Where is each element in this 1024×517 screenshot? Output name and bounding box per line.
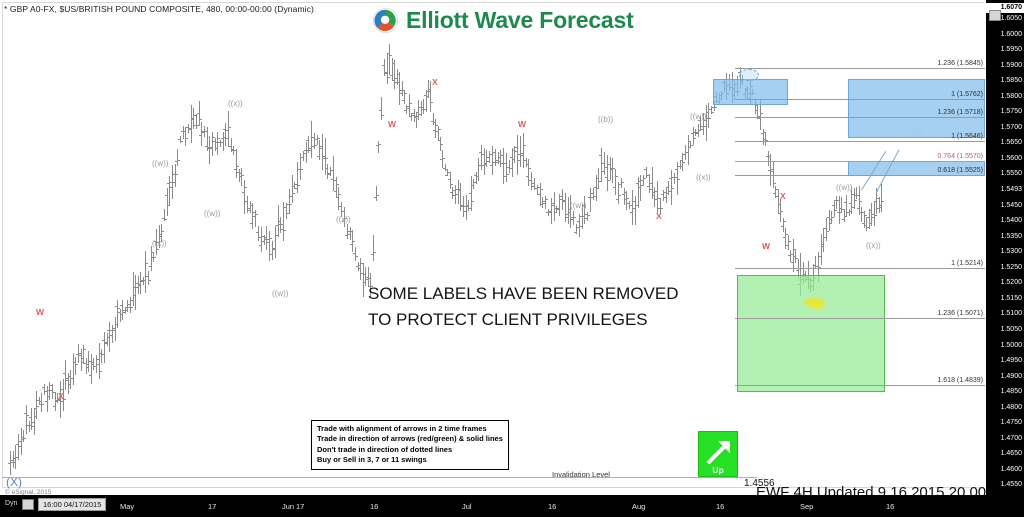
candle-bar bbox=[387, 54, 388, 84]
candle-open-tick bbox=[498, 161, 500, 162]
time-tick: 16 bbox=[716, 502, 724, 511]
candle-bar bbox=[624, 188, 625, 205]
price-tick: 1.5150 bbox=[1001, 295, 1022, 302]
candle-open-tick bbox=[81, 358, 83, 359]
candle-open-tick bbox=[315, 139, 317, 140]
time-tick: 16 bbox=[370, 502, 378, 511]
candle-close-tick bbox=[597, 188, 599, 189]
candle-open-tick bbox=[205, 146, 207, 147]
candle-bar bbox=[10, 451, 11, 475]
candle-bar bbox=[621, 178, 622, 188]
candle-open-tick bbox=[197, 113, 199, 114]
candle-open-tick bbox=[186, 127, 188, 128]
candle-open-tick bbox=[781, 226, 783, 227]
candle-close-tick bbox=[382, 115, 384, 116]
candle-open-tick bbox=[339, 206, 341, 207]
candle-open-tick bbox=[709, 109, 711, 110]
candle-bar bbox=[836, 196, 837, 209]
price-tick: 1.5800 bbox=[1001, 93, 1022, 100]
candle-open-tick bbox=[210, 147, 212, 148]
candle-close-tick bbox=[356, 256, 358, 257]
candle-open-tick bbox=[487, 157, 489, 158]
dynamic-mode-label[interactable]: Dyn bbox=[2, 498, 20, 509]
candle-open-tick bbox=[115, 306, 117, 307]
candle-close-tick bbox=[64, 399, 66, 400]
candle-close-tick bbox=[162, 231, 164, 232]
fibonacci-level-label: 1.618 (1.4839) bbox=[880, 377, 983, 384]
price-tick: 1.5000 bbox=[1001, 342, 1022, 349]
candle-open-tick bbox=[501, 163, 503, 164]
candle-bar bbox=[258, 226, 259, 241]
candle-open-tick bbox=[701, 129, 703, 130]
candle-open-tick bbox=[438, 140, 440, 141]
candle-bar bbox=[841, 197, 842, 213]
candle-bar bbox=[618, 182, 619, 204]
candle-close-tick bbox=[644, 178, 646, 179]
candle-open-tick bbox=[453, 190, 455, 191]
candle-open-tick bbox=[675, 169, 677, 170]
candle-bar bbox=[778, 189, 779, 214]
candle-close-tick bbox=[865, 215, 867, 216]
candle-close-tick bbox=[761, 113, 763, 114]
candle-open-tick bbox=[202, 131, 204, 132]
candle-open-tick bbox=[143, 280, 145, 281]
yellow-marker-blob-2 bbox=[810, 302, 824, 309]
candle-open-tick bbox=[758, 118, 760, 119]
candle-bar bbox=[107, 333, 108, 346]
candle-open-tick bbox=[666, 187, 668, 188]
candle-open-tick bbox=[175, 161, 177, 162]
candle-open-tick bbox=[602, 171, 604, 172]
candle-open-tick bbox=[504, 163, 506, 164]
candle-open-tick bbox=[563, 200, 565, 201]
candle-close-tick bbox=[784, 221, 786, 222]
candle-open-tick bbox=[507, 167, 509, 168]
candle-bar bbox=[167, 188, 168, 216]
candle-close-tick bbox=[789, 241, 791, 242]
candle-bar bbox=[83, 345, 84, 364]
candle-open-tick bbox=[766, 156, 768, 157]
candle-open-tick bbox=[771, 171, 773, 172]
candle-bar bbox=[492, 146, 493, 175]
candle-open-tick bbox=[482, 165, 484, 166]
candle-bar bbox=[523, 133, 524, 168]
candle-bar bbox=[148, 271, 149, 285]
fibonacci-level-line bbox=[735, 99, 985, 100]
candle-bar bbox=[29, 421, 30, 432]
candle-bar bbox=[466, 195, 467, 220]
candle-bar bbox=[217, 132, 218, 155]
candle-open-tick bbox=[778, 213, 780, 214]
chart-screenshot: * GBP A0-FX, $US/BRITISH POUND COMPOSITE… bbox=[0, 0, 1024, 517]
candle-open-tick bbox=[353, 253, 355, 254]
candle-close-tick bbox=[245, 187, 247, 188]
candle-bar bbox=[834, 200, 835, 217]
price-tick: 1.5700 bbox=[1001, 124, 1022, 131]
candle-close-tick bbox=[24, 438, 26, 439]
wave-label: ((x)) bbox=[152, 240, 167, 248]
candle-close-tick bbox=[377, 195, 379, 196]
candle-bar bbox=[520, 136, 521, 167]
candle-open-tick bbox=[133, 287, 135, 288]
candle-bar bbox=[500, 150, 501, 167]
rule-line-3: Don't trade in direction of dotted lines bbox=[317, 445, 503, 455]
candle-bar bbox=[654, 187, 655, 207]
candle-bar bbox=[381, 97, 382, 120]
axis-expand-button[interactable] bbox=[22, 499, 34, 510]
candle-open-tick bbox=[250, 223, 252, 224]
candle-bar bbox=[21, 428, 22, 455]
candle-bar bbox=[674, 173, 675, 184]
candle-bar bbox=[528, 159, 529, 186]
candle-open-tick bbox=[839, 208, 841, 209]
candle-open-tick bbox=[783, 237, 785, 238]
candle-open-tick bbox=[557, 209, 559, 210]
candle-bar bbox=[452, 187, 453, 199]
candle-bar bbox=[280, 217, 281, 233]
axis-corner bbox=[986, 495, 1024, 517]
fibonacci-level-label: 1 (1.5214) bbox=[880, 260, 983, 267]
candle-open-tick bbox=[624, 199, 626, 200]
candle-open-tick bbox=[382, 65, 384, 66]
candle-close-tick bbox=[451, 184, 453, 185]
candle-bar bbox=[311, 121, 312, 158]
price-tick: 1.5900 bbox=[1001, 62, 1022, 69]
trading-rules-box: Trade with alignment of arrows in 2 time… bbox=[311, 420, 509, 470]
price-tick: 1.4900 bbox=[1001, 373, 1022, 380]
candle-close-tick bbox=[270, 238, 272, 239]
candle-open-tick bbox=[568, 212, 570, 213]
candle-close-tick bbox=[284, 230, 286, 231]
candle-bar bbox=[531, 172, 532, 190]
candle-open-tick bbox=[34, 408, 36, 409]
candle-open-tick bbox=[120, 305, 122, 306]
candle-bar bbox=[450, 172, 451, 189]
candle-open-tick bbox=[678, 166, 680, 167]
candle-bar bbox=[201, 122, 202, 146]
candle-bar bbox=[554, 192, 555, 221]
candle-bar bbox=[514, 146, 515, 163]
candle-bar bbox=[526, 158, 527, 167]
wave-label: ((w)) bbox=[204, 210, 220, 218]
candle-open-tick bbox=[400, 93, 402, 94]
candle-bar bbox=[839, 196, 840, 224]
candle-bar bbox=[604, 152, 605, 175]
candle-close-tick bbox=[298, 185, 300, 186]
fibonacci-level-line bbox=[735, 68, 985, 69]
candle-open-tick bbox=[616, 199, 618, 200]
candle-bar bbox=[250, 201, 251, 213]
candle-bar bbox=[266, 226, 267, 250]
chart-plot-area[interactable]: WX((w))((x))((w))((x))((x))((w))WXW((w))… bbox=[0, 0, 986, 490]
candle-open-tick bbox=[136, 287, 138, 288]
candle-open-tick bbox=[433, 130, 435, 131]
candle-open-tick bbox=[320, 146, 322, 147]
candle-open-tick bbox=[594, 187, 596, 188]
candle-bar bbox=[635, 196, 636, 225]
candle-open-tick bbox=[466, 206, 468, 207]
candle-close-tick bbox=[608, 180, 610, 181]
candle-open-tick bbox=[608, 164, 610, 165]
candle-open-tick bbox=[178, 139, 180, 140]
candle-bar bbox=[874, 202, 875, 226]
candle-bar bbox=[314, 133, 315, 149]
candle-close-tick bbox=[157, 249, 159, 250]
candle-open-tick bbox=[515, 147, 517, 148]
time-tick: Aug bbox=[632, 502, 645, 511]
candle-open-tick bbox=[194, 125, 196, 126]
candle-bar bbox=[601, 148, 602, 182]
candle-open-tick bbox=[84, 363, 86, 364]
candle-open-tick bbox=[686, 152, 688, 153]
candle-open-tick bbox=[55, 400, 57, 401]
candle-open-tick bbox=[683, 154, 685, 155]
candle-open-tick bbox=[786, 245, 788, 246]
notice-line-2: TO PROTECT CLIENT PRIVILEGES bbox=[368, 307, 679, 333]
candle-bar bbox=[289, 189, 290, 214]
time-tick: Jun bbox=[282, 502, 294, 511]
candle-open-tick bbox=[421, 107, 423, 108]
candle-open-tick bbox=[574, 232, 576, 233]
candle-bar bbox=[418, 100, 419, 120]
candle-bar bbox=[191, 105, 192, 143]
fibonacci-level-label: 1.236 (1.5718) bbox=[880, 109, 983, 116]
start-date-chip[interactable]: 16:00 04/17/2015 bbox=[38, 498, 106, 511]
price-tick: 1.4750 bbox=[1001, 419, 1022, 426]
candle-bar bbox=[854, 188, 855, 209]
candle-close-tick bbox=[441, 144, 443, 145]
candle-open-tick bbox=[374, 197, 376, 198]
candle-bar bbox=[127, 300, 128, 312]
candle-bar bbox=[593, 188, 594, 200]
candle-open-tick bbox=[317, 156, 319, 157]
time-tick: Jul bbox=[462, 502, 472, 511]
candle-bar bbox=[261, 227, 262, 252]
candle-open-tick bbox=[107, 330, 109, 331]
fibonacci-level-label: 1.236 (1.5071) bbox=[880, 310, 983, 317]
fibonacci-dashed-extension bbox=[888, 161, 940, 162]
candle-open-tick bbox=[484, 163, 486, 164]
candle-open-tick bbox=[461, 206, 463, 207]
candle-open-tick bbox=[791, 262, 793, 263]
candle-open-tick bbox=[641, 180, 643, 181]
candle-open-tick bbox=[862, 223, 864, 224]
candle-bar bbox=[101, 349, 102, 363]
candle-open-tick bbox=[363, 274, 365, 275]
candle-bar bbox=[75, 357, 76, 375]
candle-bar bbox=[140, 272, 141, 294]
candle-bar bbox=[115, 317, 116, 341]
candle-bar bbox=[135, 275, 136, 310]
candle-open-tick bbox=[162, 218, 164, 219]
candle-bar bbox=[177, 149, 178, 166]
candle-bar bbox=[640, 175, 641, 201]
candle-open-tick bbox=[287, 204, 289, 205]
candle-close-tick bbox=[661, 208, 663, 209]
time-tick: Sep bbox=[800, 502, 813, 511]
candle-open-tick bbox=[877, 208, 879, 209]
candle-open-tick bbox=[529, 180, 531, 181]
candle-open-tick bbox=[385, 73, 387, 74]
candle-bar bbox=[447, 170, 448, 176]
candle-open-tick bbox=[652, 195, 654, 196]
candle-open-tick bbox=[813, 265, 815, 266]
candle-bar bbox=[13, 451, 14, 468]
candle-bar bbox=[821, 234, 822, 265]
candle-open-tick bbox=[428, 89, 430, 90]
candle-open-tick bbox=[267, 239, 269, 240]
candle-open-tick bbox=[191, 119, 193, 120]
fibonacci-dashed-extension bbox=[888, 175, 940, 176]
candle-open-tick bbox=[696, 132, 698, 133]
candle-open-tick bbox=[94, 366, 96, 367]
candle-bar bbox=[866, 217, 867, 231]
candle-close-tick bbox=[860, 201, 862, 202]
candle-close-tick bbox=[439, 129, 441, 130]
rule-line-2: Trade in direction of arrows (red/green)… bbox=[317, 434, 503, 444]
candle-open-tick bbox=[630, 212, 632, 213]
candle-bar bbox=[325, 138, 326, 175]
candle-open-tick bbox=[63, 373, 65, 374]
candle-close-tick bbox=[388, 77, 390, 78]
candle-open-tick bbox=[416, 112, 418, 113]
candle-close-tick bbox=[588, 215, 590, 216]
candle-open-tick bbox=[464, 211, 466, 212]
candle-open-tick bbox=[73, 362, 75, 363]
candle-bar bbox=[373, 235, 374, 261]
candle-bar bbox=[551, 198, 552, 224]
candle-open-tick bbox=[412, 113, 414, 114]
price-tick: 1.5200 bbox=[1001, 279, 1022, 286]
trend-signal-up[interactable]: Up bbox=[698, 431, 738, 477]
candle-open-tick bbox=[199, 135, 201, 136]
candle-bar bbox=[223, 132, 224, 151]
candle-open-tick bbox=[61, 401, 63, 402]
price-tick: 1.5050 bbox=[1001, 326, 1022, 333]
candle-bar bbox=[292, 175, 293, 203]
candle-open-tick bbox=[226, 138, 228, 139]
time-axis[interactable]: Dyn 16:00 04/17/2015 May1717Jun16Jul16Au… bbox=[0, 495, 986, 517]
price-axis[interactable]: 1.6070 1.60501.60001.59501.59001.58501.5… bbox=[986, 0, 1024, 517]
candle-open-tick bbox=[793, 256, 795, 257]
candle-open-tick bbox=[262, 241, 264, 242]
candle-bar bbox=[826, 218, 827, 241]
time-tick: 16 bbox=[886, 502, 894, 511]
plot-frame bbox=[2, 2, 984, 488]
swirl-logo-icon bbox=[372, 7, 399, 34]
candle-open-tick bbox=[627, 203, 629, 204]
candle-close-tick bbox=[27, 415, 29, 416]
candle-bar bbox=[570, 195, 571, 228]
price-tick: 1.5650 bbox=[1001, 139, 1022, 146]
candle-open-tick bbox=[301, 157, 303, 158]
candle-open-tick bbox=[824, 228, 826, 229]
candle-open-tick bbox=[334, 191, 336, 192]
price-tick: 1.5750 bbox=[1001, 108, 1022, 115]
candle-open-tick bbox=[356, 266, 358, 267]
wave-label: ((x)) bbox=[336, 216, 351, 224]
candle-close-tick bbox=[715, 107, 717, 108]
candle-open-tick bbox=[554, 208, 556, 209]
invalidation-level-label: Invalidation Level bbox=[552, 470, 610, 479]
candle-bar bbox=[212, 132, 213, 156]
candle-open-tick bbox=[309, 150, 311, 151]
wave-label: W bbox=[36, 308, 44, 317]
wave-label: X bbox=[780, 192, 786, 201]
candle-bar bbox=[394, 60, 395, 89]
price-tick: 1.4700 bbox=[1001, 435, 1022, 442]
candle-open-tick bbox=[323, 156, 325, 157]
candle-close-tick bbox=[431, 102, 433, 103]
candle-open-tick bbox=[395, 78, 397, 79]
candle-close-tick bbox=[845, 216, 847, 217]
candle-open-tick bbox=[471, 185, 473, 186]
wave-label: ((x)) bbox=[696, 174, 711, 182]
candle-close-tick bbox=[443, 158, 445, 159]
price-tick: 1.5250 bbox=[1001, 264, 1022, 271]
wave-label: X bbox=[58, 392, 64, 401]
candle-open-tick bbox=[638, 181, 640, 182]
candle-bar bbox=[559, 194, 560, 216]
candle-open-tick bbox=[658, 208, 660, 209]
candle-open-tick bbox=[239, 173, 241, 174]
candle-open-tick bbox=[231, 150, 233, 151]
candle-bar bbox=[389, 44, 390, 75]
candle-bar bbox=[770, 154, 771, 186]
candle-open-tick bbox=[622, 194, 624, 195]
candle-open-tick bbox=[281, 224, 283, 225]
candle-bar bbox=[768, 151, 769, 166]
candle-bar bbox=[319, 140, 320, 160]
candle-bar bbox=[70, 370, 71, 389]
candle-open-tick bbox=[518, 160, 520, 161]
axis-settings-button[interactable] bbox=[989, 10, 1001, 21]
candle-close-tick bbox=[154, 257, 156, 258]
price-tick: 1.5950 bbox=[1001, 46, 1022, 53]
candle-bar bbox=[117, 300, 118, 328]
candle-close-tick bbox=[524, 145, 526, 146]
wave-label: ((b)) bbox=[598, 116, 613, 124]
notice-line-1: SOME LABELS HAVE BEEN REMOVED bbox=[368, 281, 679, 307]
candle-open-tick bbox=[512, 150, 514, 151]
candle-close-tick bbox=[616, 176, 618, 177]
fibonacci-level-line bbox=[735, 161, 985, 162]
candle-open-tick bbox=[245, 201, 247, 202]
fib-zone-green-buy bbox=[737, 275, 885, 392]
candle-bar bbox=[241, 168, 242, 186]
candle-open-tick bbox=[71, 378, 73, 379]
candle-close-tick bbox=[242, 175, 244, 176]
candle-open-tick bbox=[571, 219, 573, 220]
price-tick: 1.4850 bbox=[1001, 388, 1022, 395]
candle-open-tick bbox=[448, 179, 450, 180]
candle-bar bbox=[317, 135, 318, 145]
candle-bar bbox=[402, 81, 403, 96]
candle-bar bbox=[680, 160, 681, 169]
candle-bar bbox=[471, 176, 472, 211]
candle-close-tick bbox=[781, 211, 783, 212]
candle-open-tick bbox=[577, 221, 579, 222]
candle-open-tick bbox=[159, 234, 161, 235]
candle-bar bbox=[433, 113, 434, 125]
time-tick: 16 bbox=[548, 502, 556, 511]
candle-open-tick bbox=[290, 196, 292, 197]
candle-close-tick bbox=[622, 182, 624, 183]
candle-open-tick bbox=[27, 425, 29, 426]
candle-bar bbox=[416, 112, 417, 128]
candle-bar bbox=[484, 148, 485, 175]
candle-bar bbox=[336, 177, 337, 198]
